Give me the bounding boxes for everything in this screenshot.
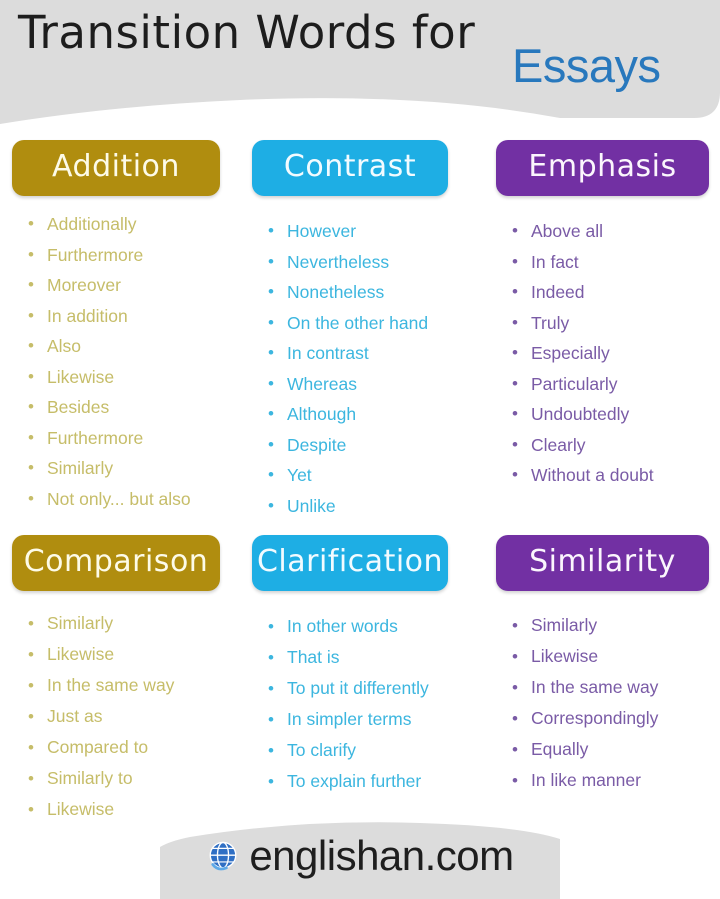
list-item: In the same way xyxy=(504,672,720,703)
page-footer: englishan.com xyxy=(0,817,720,899)
list-item: In addition xyxy=(20,301,246,332)
list-item: Undoubtedly xyxy=(504,399,720,430)
list-item: Nonetheless xyxy=(260,277,489,308)
category-title-emphasis: Emphasis xyxy=(496,140,709,196)
category-title-clarification: Clarification xyxy=(252,535,448,591)
list-item: In fact xyxy=(504,247,720,278)
category-title-comparison: Comparison xyxy=(12,535,220,591)
list-item: Nevertheless xyxy=(260,247,489,278)
list-item: Truly xyxy=(504,308,720,339)
category-row-1: Addition Additionally Furthermore Moreov… xyxy=(0,140,720,535)
list-item: Without a doubt xyxy=(504,460,720,491)
list-item: On the other hand xyxy=(260,308,489,339)
list-item: Likewise xyxy=(504,641,720,672)
list-item: Despite xyxy=(260,430,489,461)
list-item: Correspondingly xyxy=(504,703,720,734)
globe-icon xyxy=(206,839,240,873)
list-item: Moreover xyxy=(20,270,246,301)
list-item: Not only... but also xyxy=(20,484,246,515)
list-item: Whereas xyxy=(260,369,489,400)
word-list-similarity: Similarly Likewise In the same way Corre… xyxy=(504,610,720,796)
category-card-contrast: Contrast However Nevertheless Nonetheles… xyxy=(246,140,489,535)
category-row-2: Comparison Similarly Likewise In the sam… xyxy=(0,535,720,825)
list-item: Yet xyxy=(260,460,489,491)
list-item: Besides xyxy=(20,392,246,423)
footer-brand-label: englishan.com xyxy=(249,835,513,877)
category-title-addition: Addition xyxy=(12,140,220,196)
list-item: In the same way xyxy=(20,670,246,701)
category-card-emphasis: Emphasis Above all In fact Indeed Truly … xyxy=(489,140,720,535)
list-item: Unlike xyxy=(260,491,489,522)
list-item: Equally xyxy=(504,734,720,765)
list-item: Above all xyxy=(504,216,720,247)
list-item: Likewise xyxy=(20,362,246,393)
word-list-emphasis: Above all In fact Indeed Truly Especiall… xyxy=(504,216,720,491)
list-item: Indeed xyxy=(504,277,720,308)
list-item: To clarify xyxy=(260,735,489,766)
list-item: Clearly xyxy=(504,430,720,461)
word-list-comparison: Similarly Likewise In the same way Just … xyxy=(20,608,246,825)
list-item: Especially xyxy=(504,338,720,369)
category-title-contrast: Contrast xyxy=(252,140,448,196)
list-item: Although xyxy=(260,399,489,430)
category-title-similarity: Similarity xyxy=(496,535,709,591)
list-item: Additionally xyxy=(20,209,246,240)
list-item: Similarly xyxy=(20,453,246,484)
list-item: Compared to xyxy=(20,732,246,763)
list-item: Particularly xyxy=(504,369,720,400)
category-card-comparison: Comparison Similarly Likewise In the sam… xyxy=(0,535,246,825)
list-item: Similarly xyxy=(20,608,246,639)
category-grid: Addition Additionally Furthermore Moreov… xyxy=(0,140,720,825)
list-item: In like manner xyxy=(504,765,720,796)
page-title: Transition Words for xyxy=(18,6,475,59)
category-card-clarification: Clarification In other words That is To … xyxy=(246,535,489,825)
list-item: In simpler terms xyxy=(260,704,489,735)
category-card-similarity: Similarity Similarly Likewise In the sam… xyxy=(489,535,720,825)
page-title-accent: Essays xyxy=(512,38,661,93)
list-item: Also xyxy=(20,331,246,362)
list-item: In contrast xyxy=(260,338,489,369)
page-header: Transition Words for Essays xyxy=(0,0,720,135)
list-item: In other words xyxy=(260,611,489,642)
list-item: To put it differently xyxy=(260,673,489,704)
list-item: Similarly to xyxy=(20,763,246,794)
list-item: However xyxy=(260,216,489,247)
word-list-contrast: However Nevertheless Nonetheless On the … xyxy=(260,216,489,521)
list-item: That is xyxy=(260,642,489,673)
list-item: Likewise xyxy=(20,639,246,670)
category-card-addition: Addition Additionally Furthermore Moreov… xyxy=(0,140,246,535)
list-item: Just as xyxy=(20,701,246,732)
word-list-clarification: In other words That is To put it differe… xyxy=(260,611,489,797)
list-item: Furthermore xyxy=(20,240,246,271)
list-item: Similarly xyxy=(504,610,720,641)
list-item: To explain further xyxy=(260,766,489,797)
list-item: Furthermore xyxy=(20,423,246,454)
word-list-addition: Additionally Furthermore Moreover In add… xyxy=(20,209,246,514)
